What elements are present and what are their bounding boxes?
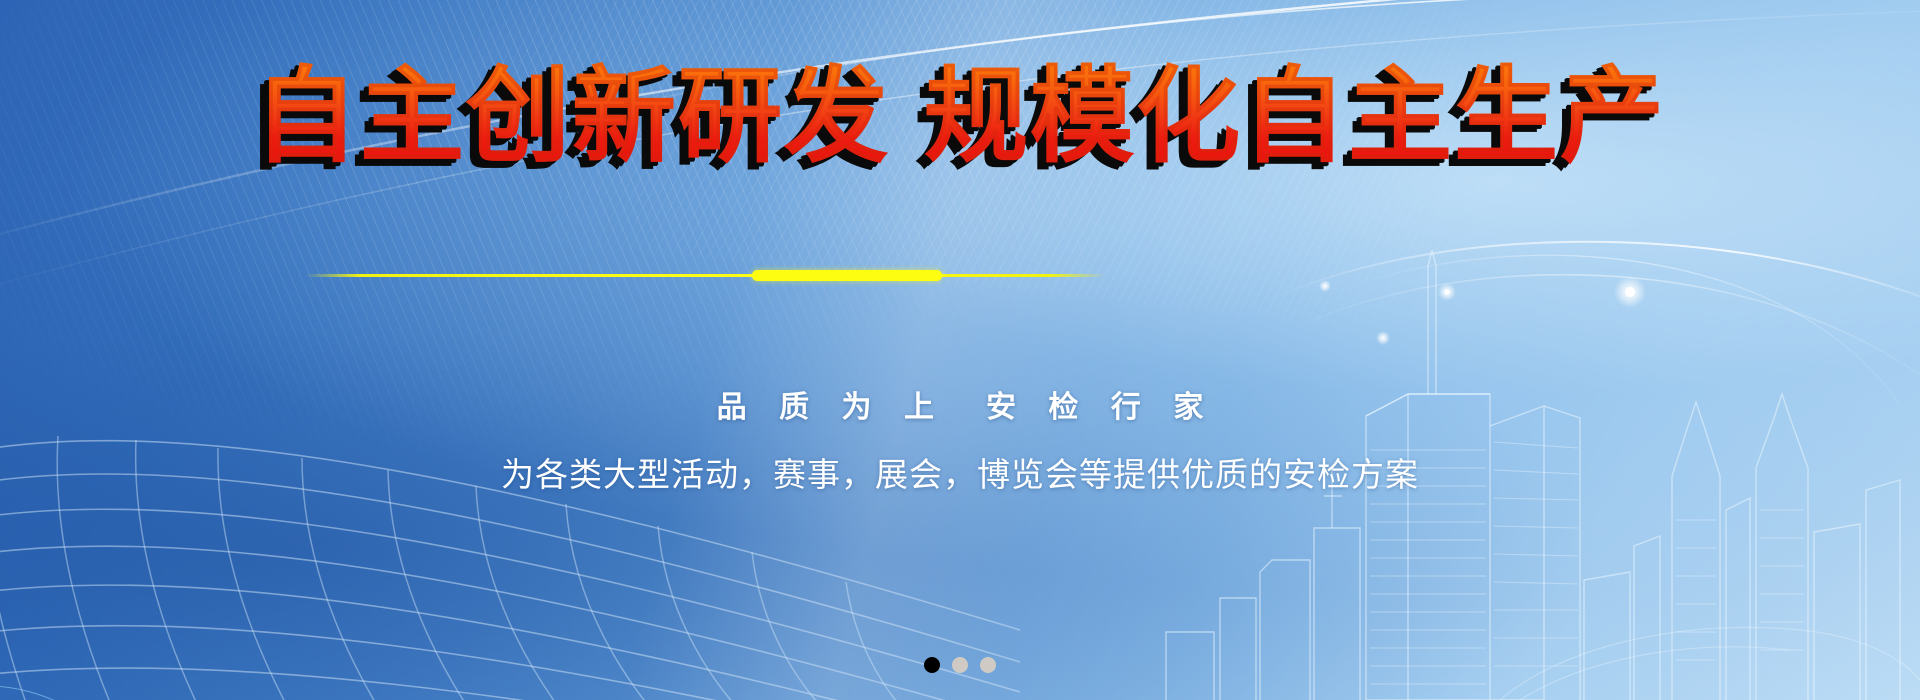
city-skyline-decor (1160, 180, 1920, 700)
divider-thin-line (305, 274, 1105, 277)
divider-thick-segment (752, 270, 942, 281)
carousel-dot-3[interactable] (980, 657, 996, 673)
hero-banner: 自主创新研发规模化自主生产 品 质 为 上 安 检 行 家 为各类大型活动，赛事… (0, 0, 1920, 700)
carousel-dots[interactable] (0, 657, 1920, 673)
page-title: 自主创新研发规模化自主生产 (0, 62, 1920, 171)
carousel-dot-1[interactable] (924, 657, 940, 673)
description-text: 为各类大型活动，赛事，展会，博览会等提供优质的安检方案 (0, 448, 1920, 496)
slogan-text: 品 质 为 上 安 检 行 家 (0, 382, 1920, 426)
divider (305, 270, 1105, 282)
headline-part-1: 自主创新研发 (254, 55, 890, 177)
headline-part-2: 规模化自主生产 (924, 55, 1666, 177)
carousel-dot-2[interactable] (952, 657, 968, 673)
